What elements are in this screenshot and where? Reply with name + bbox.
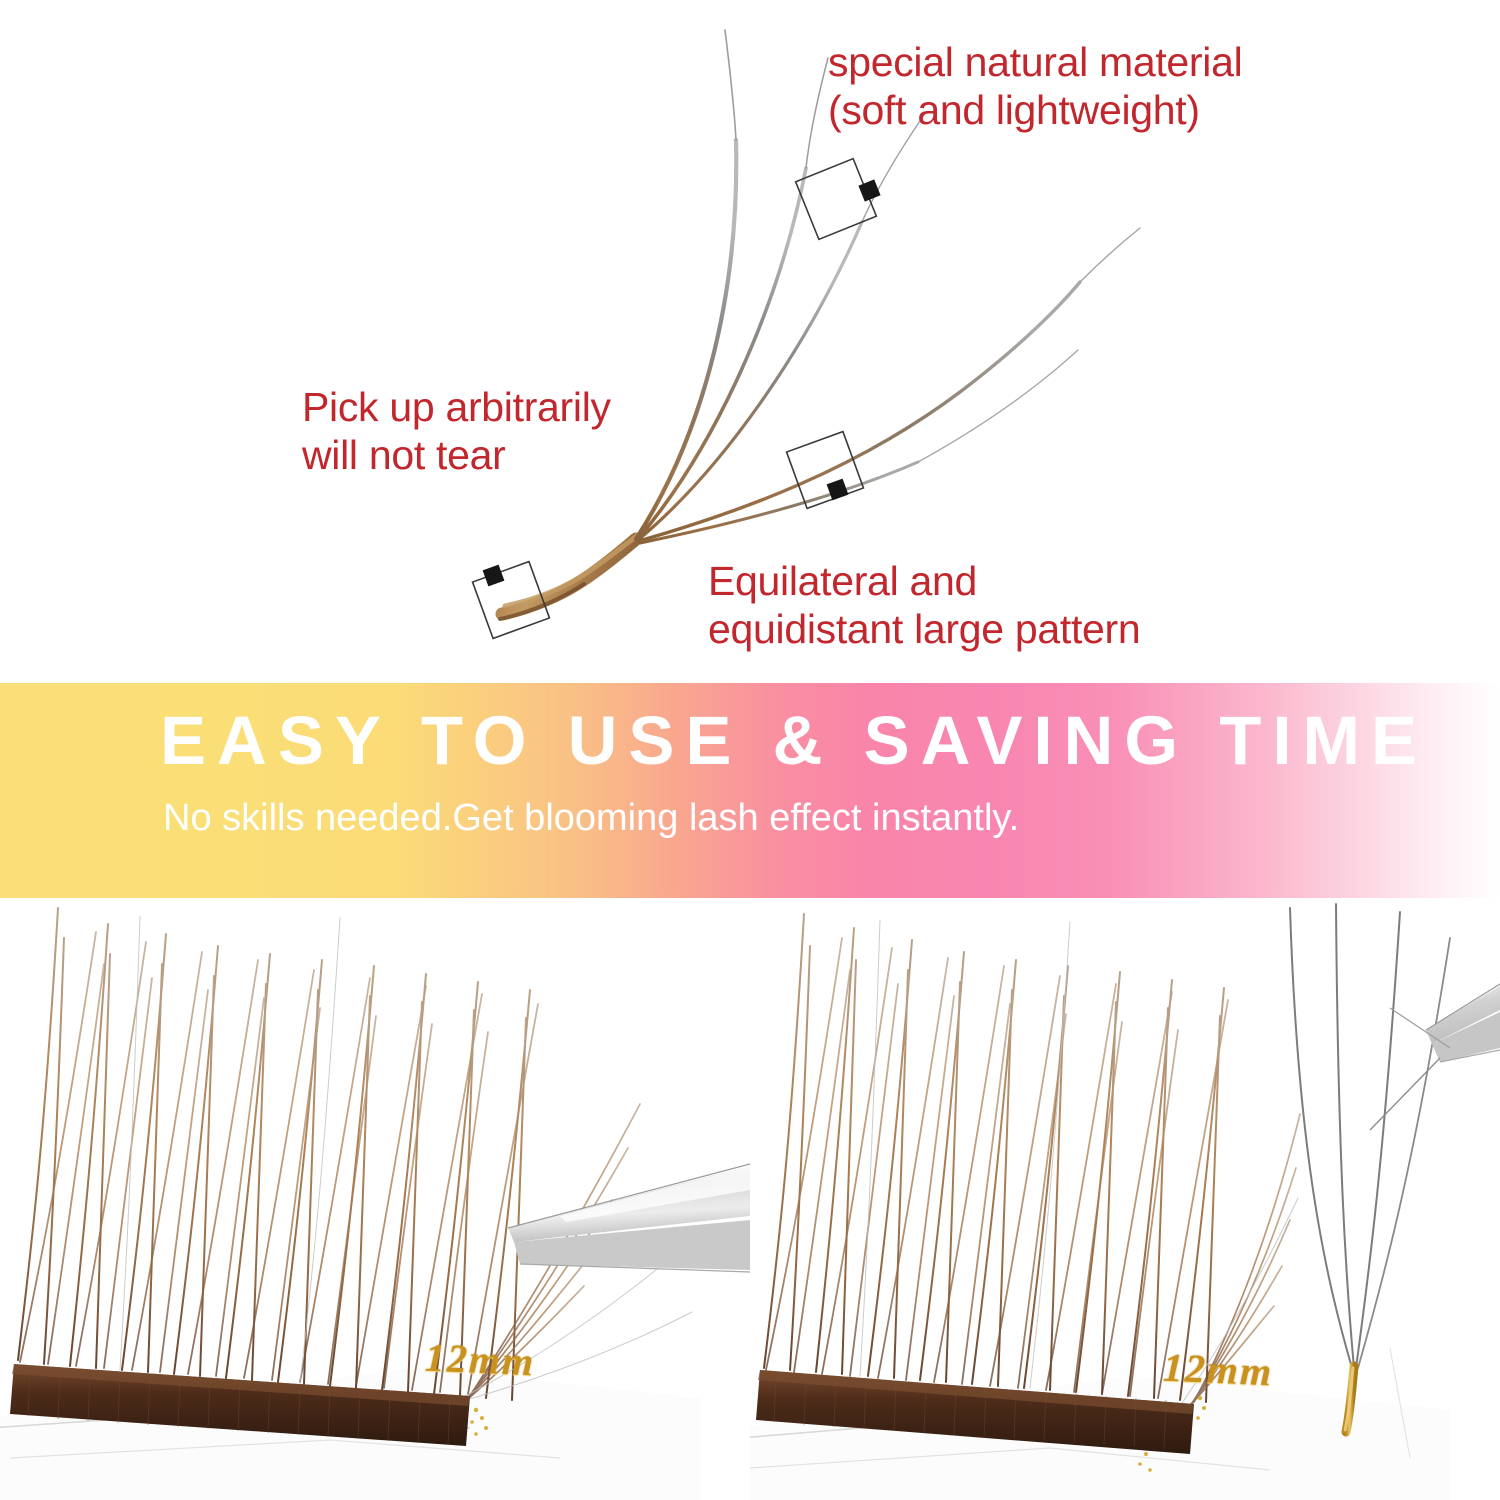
promo-banner: EASY TO USE & SAVING TIME No skills need… <box>0 683 1500 898</box>
marker-top-right <box>796 159 881 240</box>
product-photo-left <box>0 898 750 1500</box>
top-illustration-section: special natural material (soft and light… <box>0 0 1500 683</box>
lash-tray-right-image <box>750 898 1500 1500</box>
size-label-right: 12mm <box>1162 1344 1274 1396</box>
size-label-left: 12mm <box>424 1334 536 1386</box>
callout-pick-up-arbitrarily: Pick up arbitrarily will not tear <box>302 383 611 480</box>
banner-headline: EASY TO USE & SAVING TIME <box>160 706 1410 775</box>
callout-equilateral-equidistant: Equilateral and equidistant large patter… <box>708 557 1140 654</box>
fan-stem <box>500 535 638 619</box>
product-photo-section <box>0 898 1500 1500</box>
lash-tray-left-image <box>0 898 750 1500</box>
callout-special-natural-material: special natural material (soft and light… <box>828 38 1242 135</box>
product-photo-right <box>750 898 1500 1500</box>
banner-subheadline: No skills needed.Get blooming lash effec… <box>163 798 1413 840</box>
